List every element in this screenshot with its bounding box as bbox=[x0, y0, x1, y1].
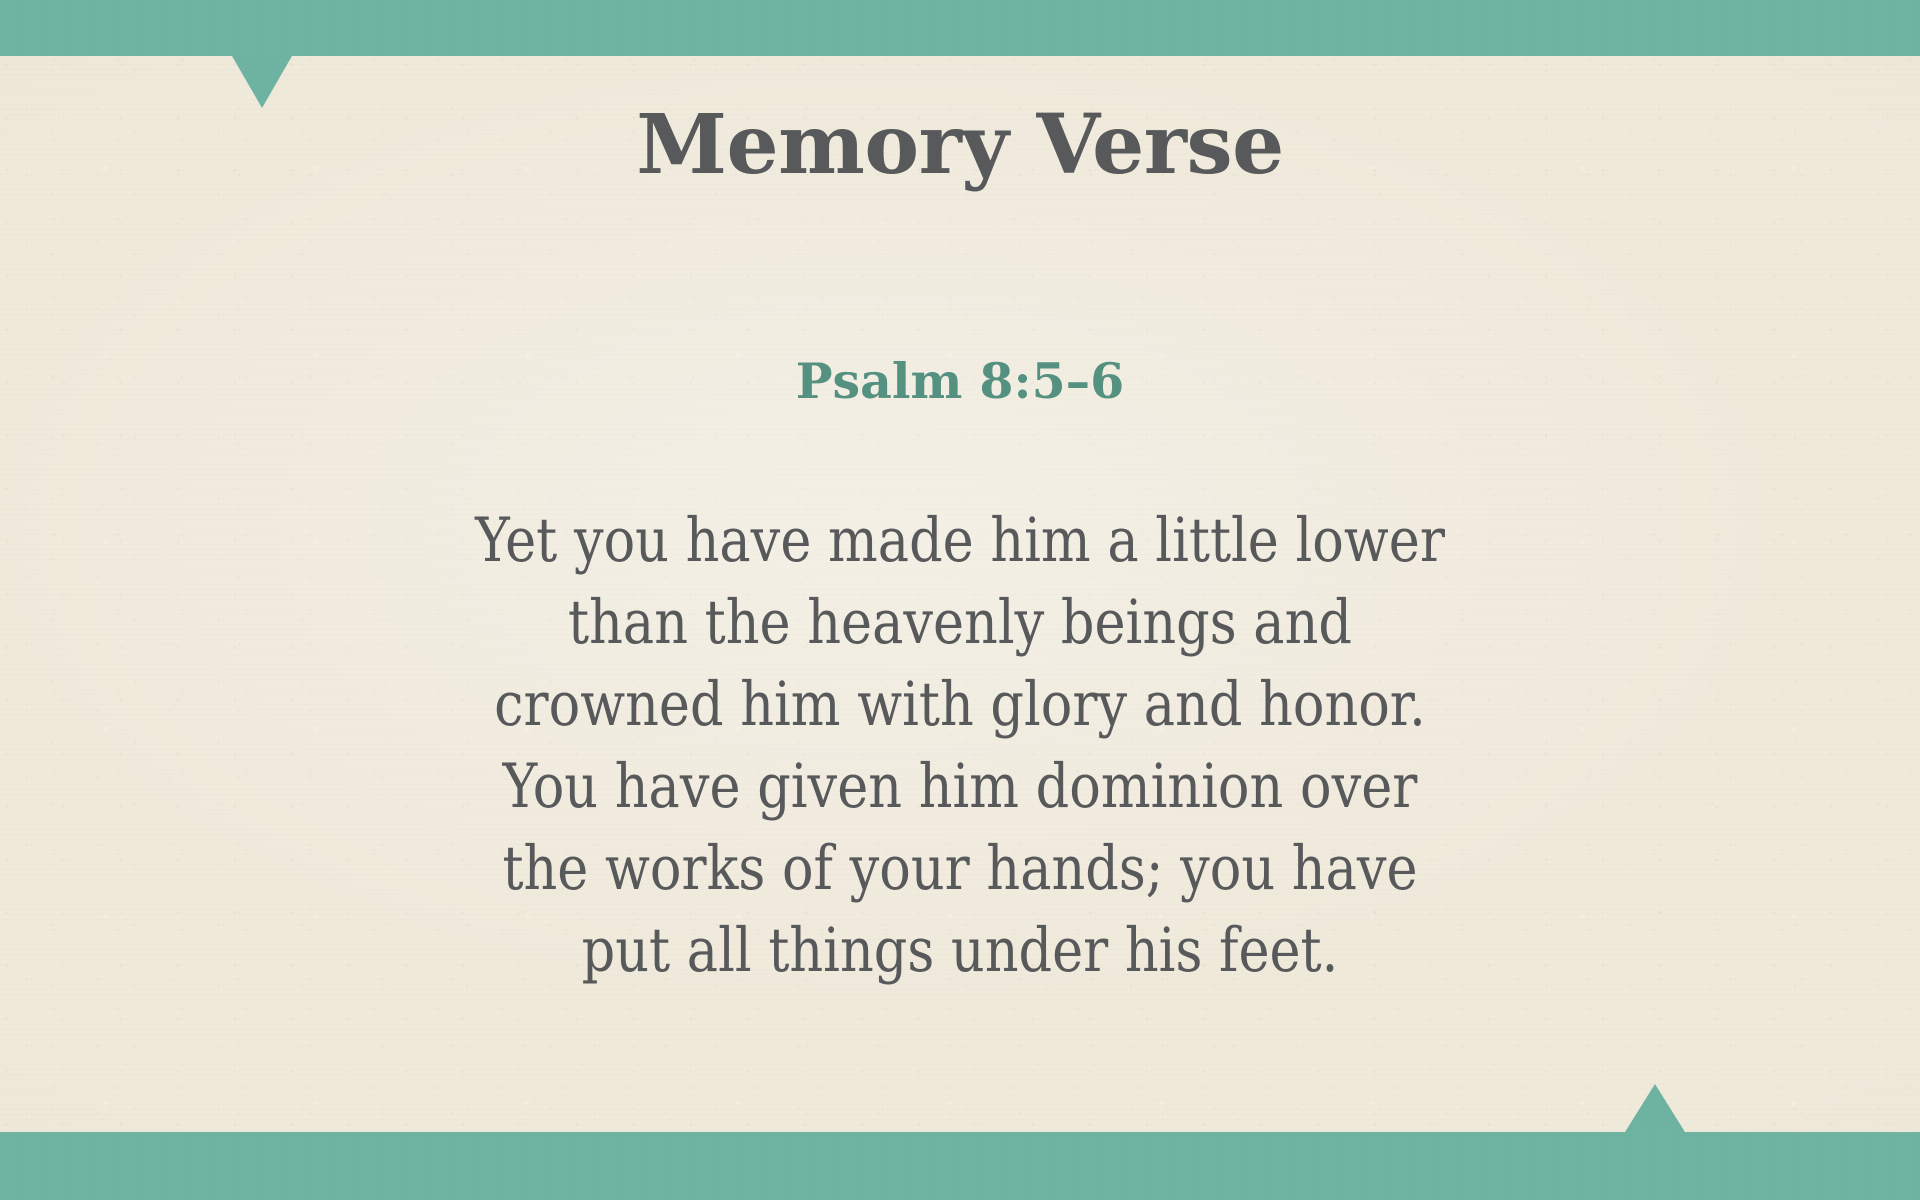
scripture-body: Yet you have made him a little lower tha… bbox=[310, 500, 1610, 992]
scripture-reference: Psalm 8:5–6 bbox=[0, 357, 1920, 406]
scripture-line: Yet you have made him a little lower bbox=[401, 500, 1519, 582]
slide-content: Memory Verse Psalm 8:5–6 Yet you have ma… bbox=[0, 0, 1920, 1200]
page-title: Memory Verse bbox=[0, 104, 1920, 186]
scripture-line: put all things under his feet. bbox=[401, 910, 1519, 992]
scripture-line: crowned him with glory and honor. bbox=[401, 664, 1519, 746]
scripture-line: You have given him dominion over bbox=[401, 746, 1519, 828]
scripture-line: the works of your hands; you have bbox=[401, 828, 1519, 910]
scripture-line: than the heavenly beings and bbox=[401, 582, 1519, 664]
memory-verse-slide: Memory Verse Psalm 8:5–6 Yet you have ma… bbox=[0, 0, 1920, 1200]
